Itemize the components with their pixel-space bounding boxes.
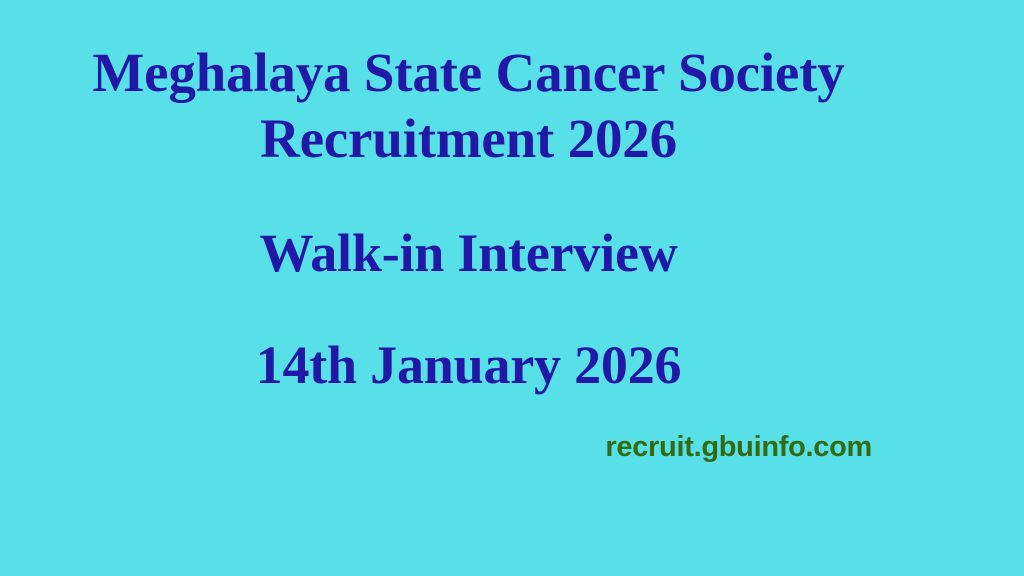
headline-spacer-1 (0, 172, 937, 220)
headline-spacer-2 (0, 286, 937, 332)
website-url[interactable]: recruit.gbuinfo.com (0, 430, 872, 464)
headline-block: Meghalaya State Cancer Society Recruitme… (0, 40, 937, 398)
poster-canvas: Meghalaya State Cancer Society Recruitme… (0, 0, 1024, 576)
interview-date-line: 14th January 2026 (0, 332, 937, 398)
organization-title-line-2: Recruitment 2026 (0, 106, 937, 172)
interview-type-line: Walk-in Interview (0, 220, 937, 286)
organization-title-line-1: Meghalaya State Cancer Society (0, 40, 937, 106)
